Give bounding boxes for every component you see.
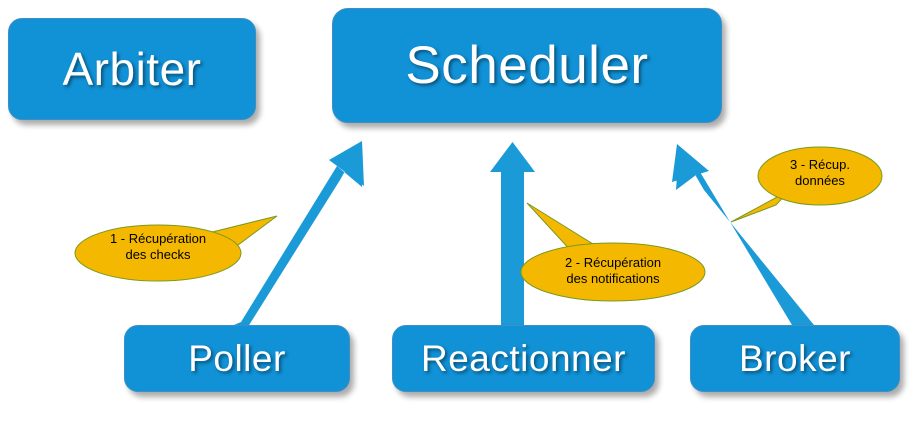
- callout-3-bubble: [758, 147, 882, 205]
- callout-2-bubble: [521, 243, 705, 301]
- callout-1-bubble: [75, 225, 241, 281]
- callout-layer: [0, 0, 922, 429]
- diagram-canvas: 1 - Récupération des checks 2 - Récupéra…: [0, 0, 922, 429]
